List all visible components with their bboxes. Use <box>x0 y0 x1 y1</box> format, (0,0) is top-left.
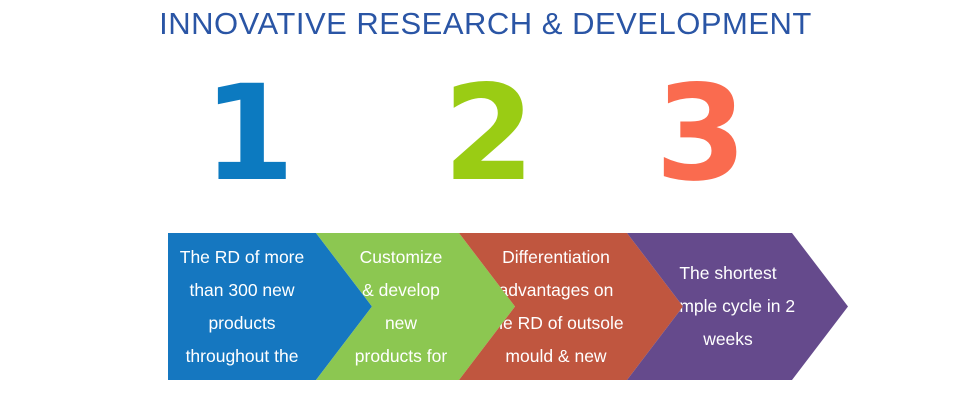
step-number-2: 2 <box>443 68 533 200</box>
chevron-step-4-line-1: The shortest <box>653 257 803 290</box>
chevron-step-3-line-4: mould & new <box>481 340 631 373</box>
chevron-step-3-line-1: Differentiation <box>481 241 631 274</box>
step-number-3: 3 <box>655 68 745 200</box>
process-chevron-band: The RD of more than 300 new products thr… <box>0 233 971 380</box>
chevron-step-1-line-2: than 300 new <box>168 274 316 307</box>
chevron-step-2-line-4: products for <box>338 340 464 373</box>
chevron-step-1-line-4: throughout the <box>168 340 316 373</box>
chevron-step-2-line-1: Customize <box>338 241 464 274</box>
step-number-1: 1 <box>203 68 293 200</box>
chevron-step-1-line-3: products <box>168 307 316 340</box>
chevron-step-1-text: The RD of more than 300 new products thr… <box>168 241 316 373</box>
chevron-step-1-line-1: The RD of more <box>168 241 316 274</box>
page-title: INNOVATIVE RESEARCH & DEVELOPMENT <box>0 6 971 42</box>
chevron-step-4-line-3: weeks <box>653 323 803 356</box>
